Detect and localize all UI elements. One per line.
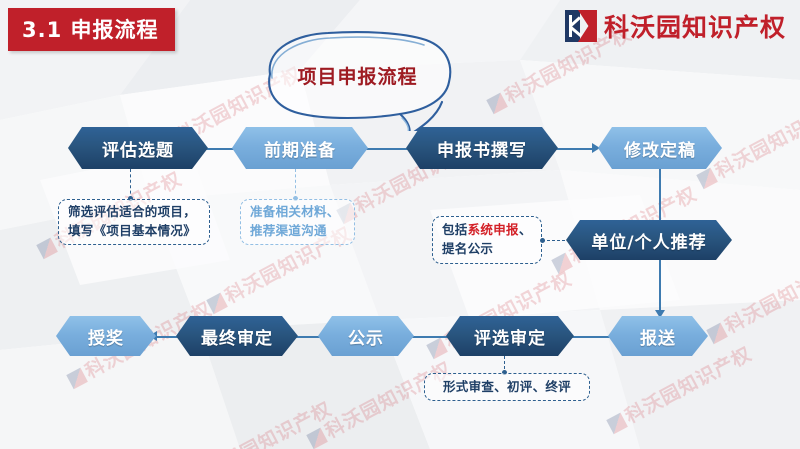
flow-step-gongshi[interactable]: 公示 (318, 316, 414, 356)
flow-step-pinggu-xuanti[interactable]: 评估选题 (68, 127, 208, 169)
flow-step-label: 报送 (640, 324, 676, 349)
flow-step-pingxuan-shending[interactable]: 评选审定 (446, 316, 574, 356)
flow-step-label: 授奖 (88, 324, 124, 349)
flow-step-danwei-geren-tuijian[interactable]: 单位/个人推荐 (566, 220, 732, 260)
flow-step-shoujiang[interactable]: 授奖 (56, 316, 156, 356)
note-line: 填写《项目基本情况》 (68, 222, 200, 241)
section-title-banner: 3.1 申报流程 (8, 8, 175, 51)
speech-bubble: 项目申报流程 (250, 26, 465, 131)
flow-step-label: 单位/个人推荐 (591, 228, 706, 253)
note-line: 包括系统申报、 (442, 221, 532, 240)
flow-step-label: 公示 (348, 324, 384, 349)
note-leader-line (542, 240, 570, 241)
flow-step-label: 评选审定 (474, 324, 546, 349)
note-line: 推荐渠道沟通 (250, 222, 345, 241)
note-leader-dot (540, 238, 545, 243)
note-pingxuan-shending: 形式审查、初评、终评 (424, 373, 590, 401)
note-line: 提名公示 (442, 240, 532, 259)
note-line: 形式审查、初评、终评 (443, 378, 571, 397)
flow-step-xiugai-dinggao[interactable]: 修改定稿 (598, 127, 722, 169)
flow-step-label: 评估选题 (102, 136, 174, 161)
k-logo-icon (565, 10, 597, 42)
note-leader-line (295, 169, 296, 199)
slide-canvas: 科沃园知识产权 科沃园知识产权 科沃园知识产权 科沃园知识产权 科沃园知识产权 … (0, 0, 800, 449)
flow-step-label: 修改定稿 (624, 136, 696, 161)
note-pinggu-xuanti: 筛选评估适合的项目， 填写《项目基本情况》 (58, 199, 210, 245)
flow-step-label: 最终审定 (201, 324, 273, 349)
brand-logo: 科沃园知识产权 (565, 8, 786, 44)
flow-step-shenbaoshu-zhuanxie[interactable]: 申报书撰写 (406, 127, 558, 169)
flow-step-label: 申报书撰写 (437, 136, 527, 161)
flow-step-qianqi-zhunbei[interactable]: 前期准备 (232, 127, 368, 169)
note-line: 准备相关材料、 (250, 203, 345, 222)
flow-step-zuizhong-shending[interactable]: 最终审定 (176, 316, 298, 356)
connector-line (659, 260, 661, 312)
note-qianqi-zhunbei: 准备相关材料、 推荐渠道沟通 (240, 199, 355, 245)
flow-step-baosong[interactable]: 报送 (608, 316, 708, 356)
brand-name: 科沃园知识产权 (604, 8, 786, 44)
note-danwei-geren-tuijian: 包括系统申报、 提名公示 (432, 216, 542, 264)
note-leader-line (130, 169, 131, 199)
watermark: 科沃园知识产权 (703, 249, 800, 347)
connector-line (572, 336, 610, 338)
bubble-title: 项目申报流程 (250, 62, 465, 89)
note-highlight: 系统申报 (468, 222, 519, 237)
flow-step-label: 前期准备 (264, 136, 336, 161)
connector-line (556, 148, 594, 150)
connector-line (659, 169, 661, 222)
connector-line (365, 148, 408, 150)
note-line: 筛选评估适合的项目， (68, 203, 200, 222)
